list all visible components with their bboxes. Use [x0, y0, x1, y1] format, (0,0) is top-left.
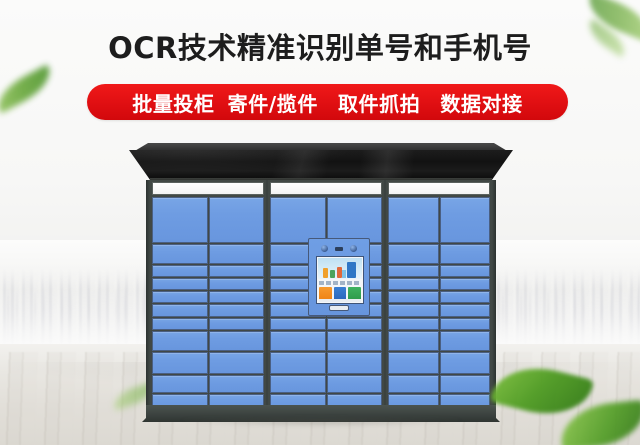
camera-module	[309, 244, 369, 253]
locker-door-row	[152, 291, 264, 303]
locker-door[interactable]	[152, 304, 208, 316]
hero-locker	[347, 262, 356, 278]
locker-bay-right	[386, 180, 492, 405]
locker-door-row	[388, 197, 490, 243]
locker-door[interactable]	[327, 352, 383, 374]
locker-door[interactable]	[388, 304, 439, 316]
locker-door[interactable]	[327, 318, 383, 330]
bay-header-band	[270, 182, 382, 195]
hero-figure	[330, 270, 335, 278]
locker-door[interactable]	[152, 278, 208, 290]
locker-door[interactable]	[440, 375, 491, 393]
locker-door[interactable]	[388, 244, 439, 264]
locker-door[interactable]	[152, 375, 208, 393]
locker-door[interactable]	[440, 304, 491, 316]
camera-lens-icon	[350, 245, 357, 252]
locker-door[interactable]	[440, 331, 491, 351]
locker-door[interactable]	[270, 318, 326, 330]
feature-pill-item: 数据对接	[440, 92, 522, 116]
locker-door-row	[388, 244, 490, 264]
feature-pill: 批量投柜寄件/揽件取件抓拍数据对接	[87, 84, 568, 120]
locker-door[interactable]	[440, 291, 491, 303]
locker-door[interactable]	[152, 244, 208, 264]
locker-door[interactable]	[152, 352, 208, 374]
locker-door-row	[152, 244, 264, 264]
locker-door[interactable]	[209, 375, 265, 393]
locker-door-row	[270, 197, 382, 243]
locker-door-row	[152, 197, 264, 243]
locker-door-row	[388, 291, 490, 303]
locker-door[interactable]	[209, 197, 265, 243]
locker-door[interactable]	[209, 291, 265, 303]
operator-kiosk[interactable]	[308, 238, 370, 316]
locker-door-row	[388, 265, 490, 277]
kiosk-touchscreen[interactable]	[316, 256, 364, 304]
card-slot-icon[interactable]	[329, 305, 349, 311]
locker-door[interactable]	[209, 278, 265, 290]
locker-door[interactable]	[440, 265, 491, 277]
locker-door-row	[270, 352, 382, 374]
locker-door[interactable]	[270, 197, 326, 243]
locker-door[interactable]	[388, 291, 439, 303]
feature-pill-item: 取件抓拍	[338, 92, 420, 116]
bay-header-band	[152, 182, 264, 195]
locker-door-row	[270, 375, 382, 393]
feature-pill-label: 批量投柜寄件/揽件取件抓拍数据对接	[129, 88, 526, 117]
page-title: OCR技术精准识别单号和手机号	[0, 28, 640, 68]
locker-door[interactable]	[440, 244, 491, 264]
locker-door-row	[152, 304, 264, 316]
locker-door[interactable]	[270, 331, 326, 351]
scanner-bar-icon	[335, 247, 343, 251]
locker-door[interactable]	[440, 352, 491, 374]
locker-door-grid	[388, 197, 490, 402]
locker-door[interactable]	[152, 331, 208, 351]
locker-door[interactable]	[388, 331, 439, 351]
locker-door-row	[152, 331, 264, 351]
canopy-highlight	[129, 150, 513, 180]
bay-header-band	[388, 182, 490, 195]
locker-door-row	[152, 318, 264, 330]
locker-door[interactable]	[388, 278, 439, 290]
locker-door-row	[388, 318, 490, 330]
locker-door-row	[388, 331, 490, 351]
locker-door[interactable]	[270, 352, 326, 374]
locker-door[interactable]	[440, 278, 491, 290]
cabinet-shadow	[128, 419, 514, 430]
locker-door[interactable]	[327, 375, 383, 393]
locker-door[interactable]	[327, 197, 383, 243]
locker-door[interactable]	[152, 197, 208, 243]
locker-door-row	[270, 331, 382, 351]
locker-door-row	[388, 375, 490, 393]
locker-door[interactable]	[152, 318, 208, 330]
locker-door-row	[152, 375, 264, 393]
locker-door[interactable]	[440, 197, 491, 243]
locker-door-grid	[152, 197, 264, 402]
locker-door-row	[152, 278, 264, 290]
locker-door[interactable]	[388, 352, 439, 374]
locker-door[interactable]	[270, 375, 326, 393]
locker-door[interactable]	[388, 197, 439, 243]
kiosk-notice-text	[319, 281, 361, 285]
kiosk-screen-footer	[319, 299, 361, 302]
locker-door-row	[388, 304, 490, 316]
locker-door[interactable]	[209, 352, 265, 374]
locker-bay-left	[150, 180, 266, 405]
locker-door-row	[152, 265, 264, 277]
locker-door-row	[388, 352, 490, 374]
locker-door[interactable]	[440, 318, 491, 330]
locker-door-row	[270, 318, 382, 330]
locker-door-row	[388, 278, 490, 290]
hero-figure	[323, 268, 328, 278]
locker-door[interactable]	[209, 331, 265, 351]
locker-door[interactable]	[209, 304, 265, 316]
locker-door[interactable]	[388, 265, 439, 277]
promo-banner-scene: OCR技术精准识别单号和手机号 批量投柜寄件/揽件取件抓拍数据对接	[0, 0, 640, 445]
hero-parcel	[342, 270, 346, 278]
camera-lens-icon	[321, 245, 328, 252]
kiosk-hero-image	[318, 258, 362, 279]
feature-pill-item: 批量投柜	[132, 92, 214, 116]
locker-door[interactable]	[209, 244, 265, 264]
locker-door[interactable]	[209, 265, 265, 277]
locker-door[interactable]	[327, 331, 383, 351]
locker-door[interactable]	[209, 318, 265, 330]
feature-pill-item: 寄件/揽件	[228, 92, 318, 116]
locker-door[interactable]	[152, 291, 208, 303]
locker-door[interactable]	[152, 265, 208, 277]
locker-door[interactable]	[388, 375, 439, 393]
locker-door[interactable]	[388, 318, 439, 330]
locker-door-row	[152, 352, 264, 374]
